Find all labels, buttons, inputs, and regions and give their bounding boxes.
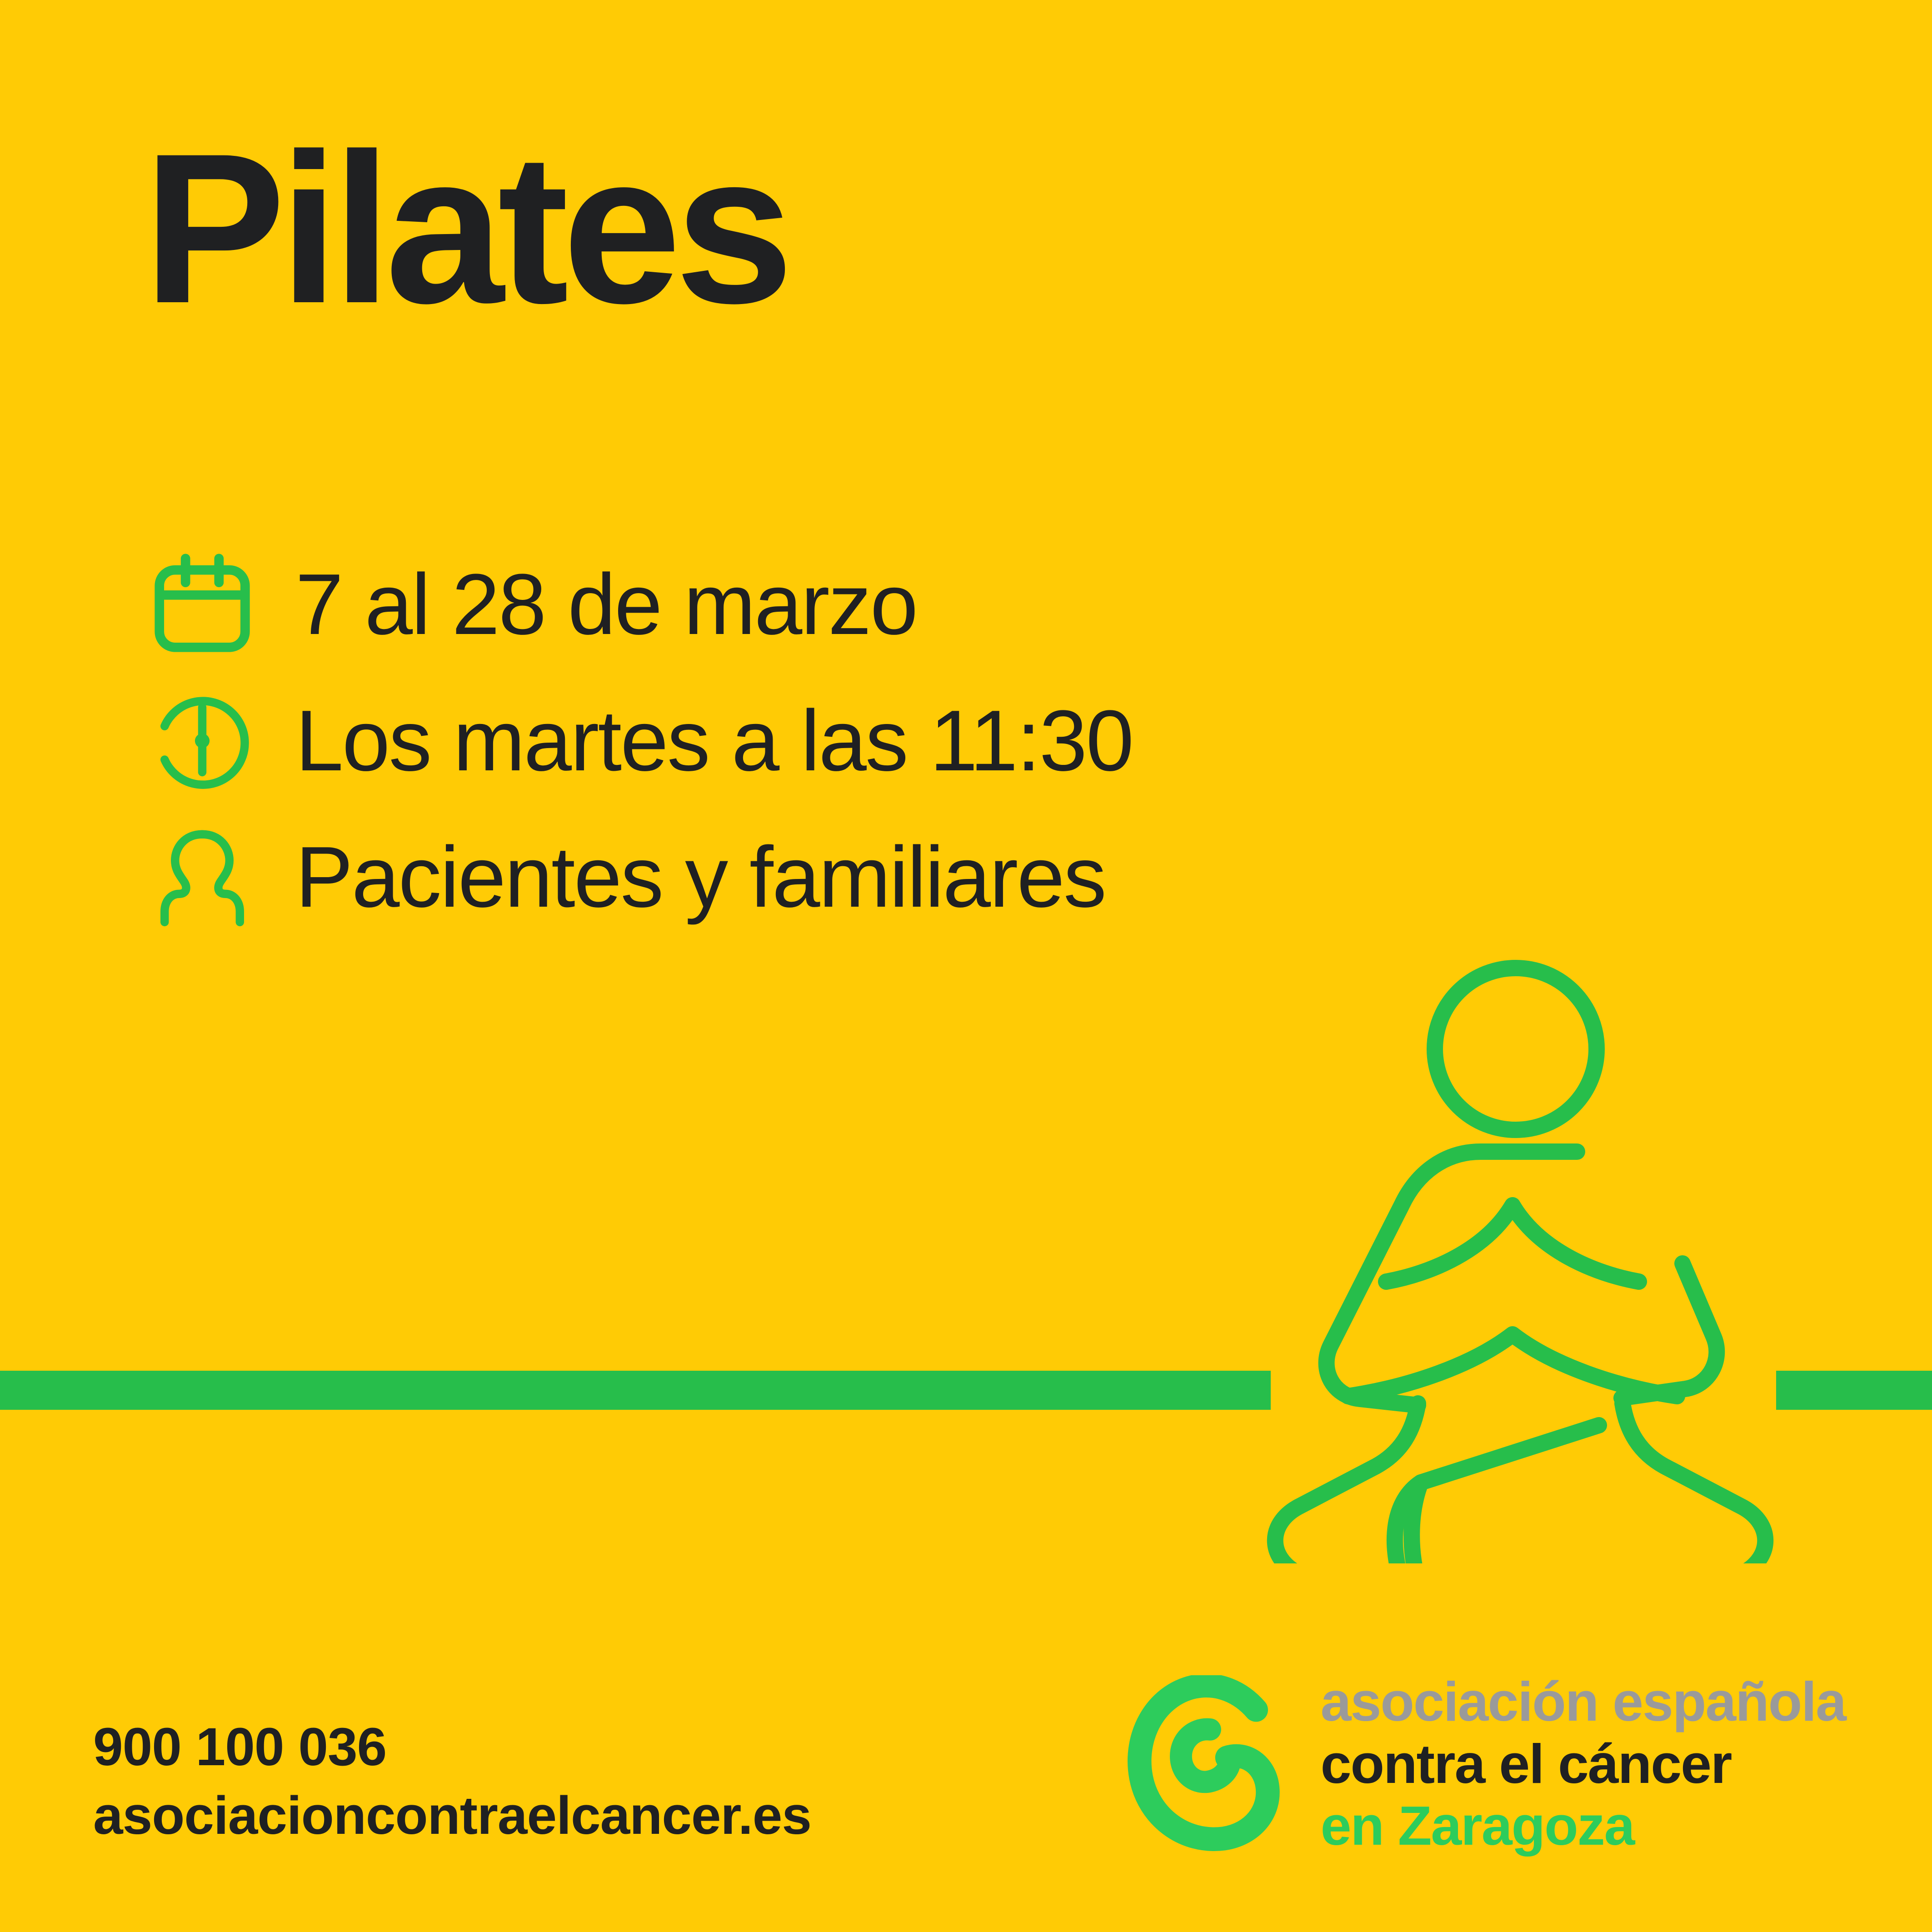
logo-line-cause: contra el cáncer: [1321, 1733, 1846, 1795]
list-item-label: Los martes a las 11:30: [295, 698, 1133, 784]
contact-website[interactable]: asociacioncontraelcancer.es: [93, 1782, 811, 1850]
event-details-list: 7 al 28 de marzo Los martes a las 11:30 …: [150, 536, 1423, 945]
page-title: Pilates: [143, 122, 787, 335]
list-item: 7 al 28 de marzo: [150, 536, 1423, 673]
contact-block: 900 100 036 asociacioncontraelcancer.es: [93, 1713, 811, 1850]
yoga-lotus-figure-illustration: [1218, 936, 1822, 1563]
contact-phone[interactable]: 900 100 036: [93, 1713, 811, 1782]
clock-icon: [150, 689, 255, 793]
poster-canvas: Pilates 7 al 28 de marzo: [0, 0, 1932, 1932]
logo-line-association: asociación española: [1321, 1671, 1846, 1733]
list-item-label: 7 al 28 de marzo: [295, 561, 917, 648]
person-icon: [150, 825, 255, 929]
aecc-logo: asociación española contra el cáncer en …: [1125, 1671, 1846, 1857]
aecc-logo-text: asociación española contra el cáncer en …: [1321, 1671, 1846, 1857]
green-divider-band-left: [0, 1371, 1271, 1410]
list-item: Los martes a las 11:30: [150, 673, 1423, 809]
logo-line-location: en Zaragoza: [1321, 1795, 1846, 1857]
aecc-c-spiral-logo-icon: [1125, 1675, 1295, 1857]
list-item: Pacientes y familiares: [150, 809, 1423, 945]
calendar-icon: [150, 552, 255, 657]
list-item-label: Pacientes y familiares: [295, 834, 1105, 920]
